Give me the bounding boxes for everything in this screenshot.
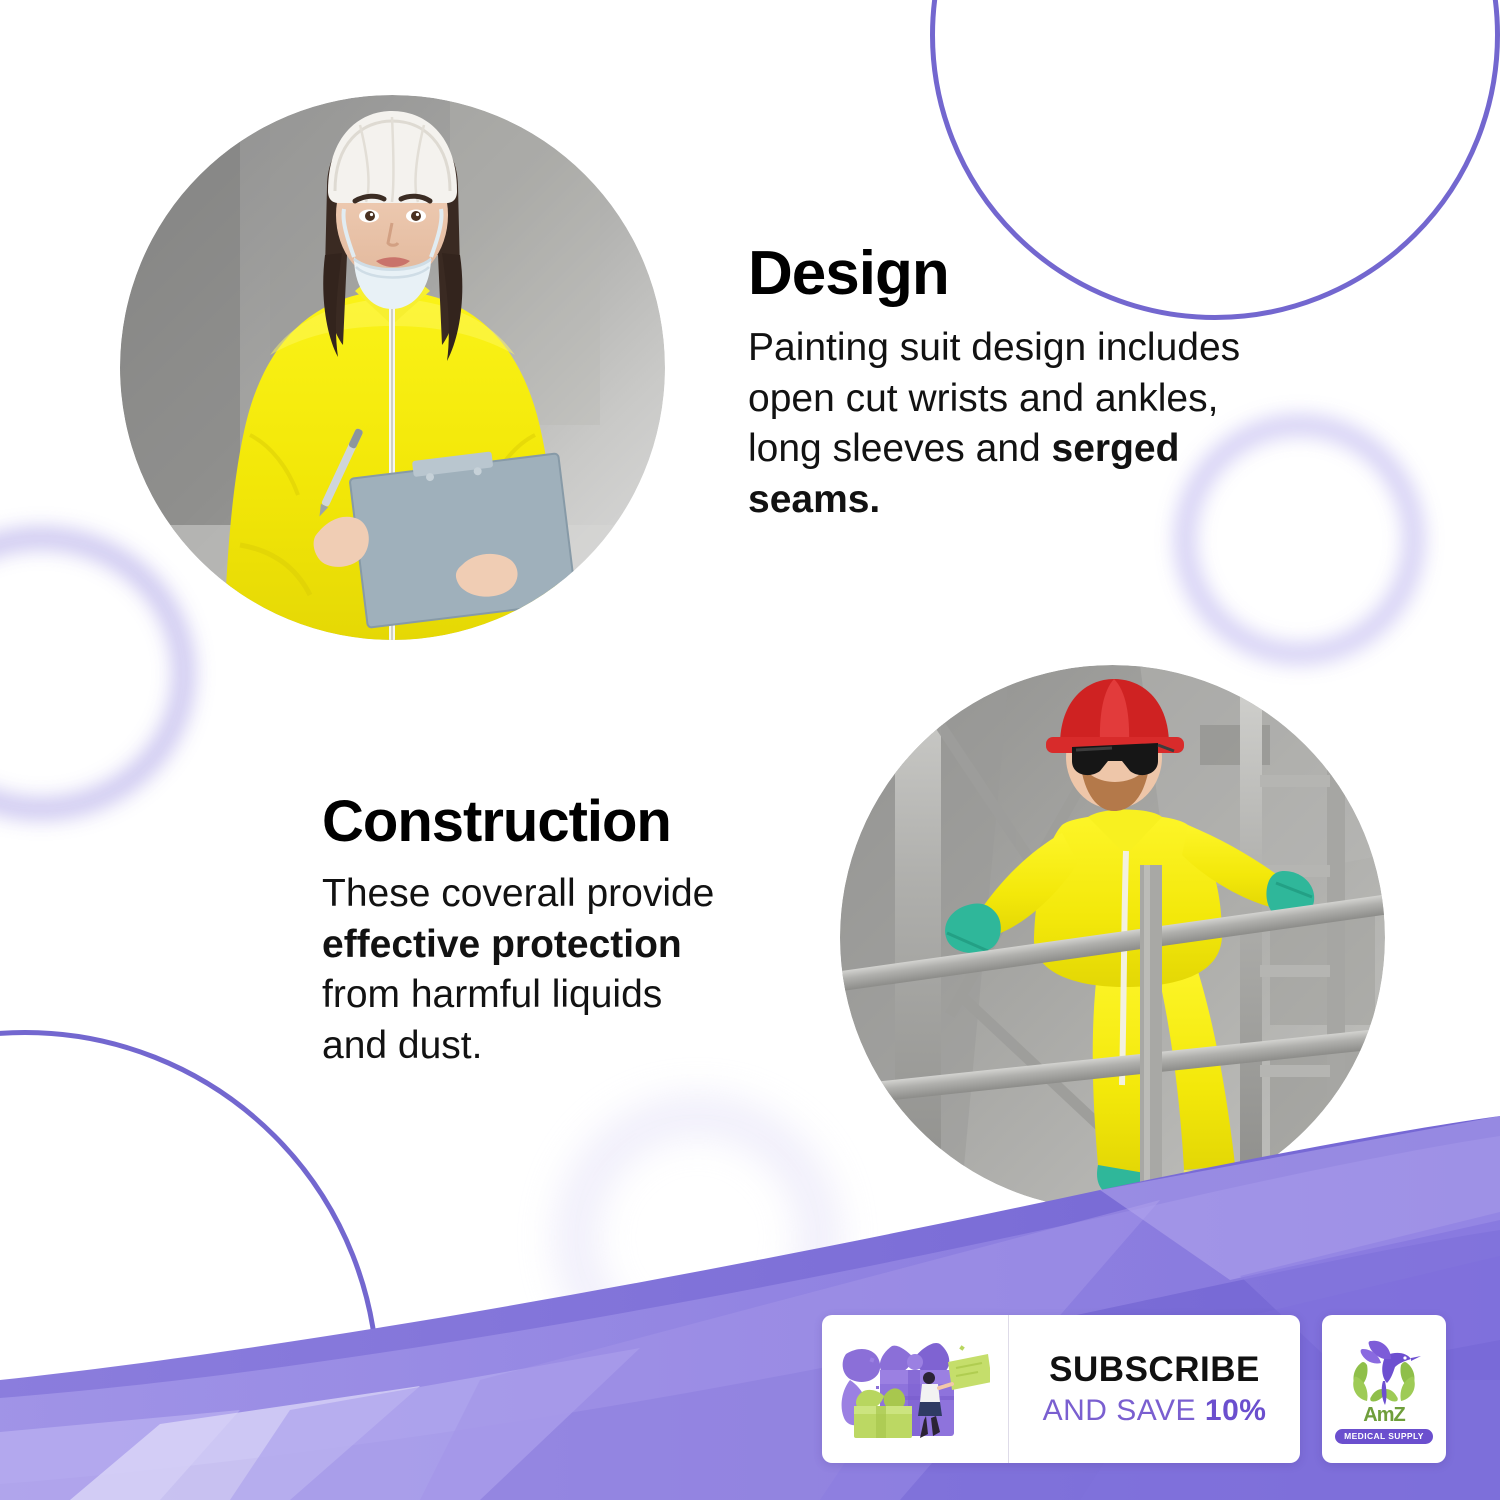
gift-boxes-icon	[822, 1315, 1008, 1463]
subscribe-label: SUBSCRIBE	[1049, 1350, 1260, 1390]
subscribe-discount-prefix: AND SAVE	[1043, 1394, 1205, 1427]
construction-body-part-1: These coverall provide	[322, 872, 714, 915]
section-design-body: Painting suit design includes open cut w…	[748, 323, 1288, 526]
section-design: Design Painting suit design includes ope…	[748, 243, 1288, 526]
brand-logo-card[interactable]: AmZ MEDICAL SUPPLY	[1322, 1315, 1446, 1463]
subscribe-discount-label: AND SAVE 10%	[1043, 1394, 1267, 1428]
construction-body-part-2: effective protection	[322, 923, 682, 966]
subscribe-banner[interactable]: SUBSCRIBE AND SAVE 10%	[822, 1315, 1300, 1463]
infographic-canvas: Design Painting suit design includes ope…	[0, 0, 1500, 1500]
section-construction-body: These coverall provide effective protect…	[322, 869, 722, 1072]
brand-logo: AmZ MEDICAL SUPPLY	[1335, 1335, 1433, 1444]
page-title: Design	[748, 243, 1288, 305]
decorative-soft-ring-left	[0, 530, 192, 817]
subscribe-text-group: SUBSCRIBE AND SAVE 10%	[1009, 1350, 1300, 1428]
subscribe-discount-value: 10%	[1205, 1394, 1267, 1427]
hummingbird-leaf-icon	[1347, 1335, 1421, 1407]
brand-tagline: MEDICAL SUPPLY	[1335, 1429, 1433, 1444]
brand-wordmark: AmZ	[1363, 1405, 1404, 1425]
section-construction: Construction These coverall provide effe…	[322, 793, 722, 1072]
construction-body-part-3: from harmful liquids and dust.	[322, 973, 662, 1067]
section-construction-title: Construction	[322, 793, 722, 851]
photo-design-woman-coverall	[120, 95, 665, 640]
